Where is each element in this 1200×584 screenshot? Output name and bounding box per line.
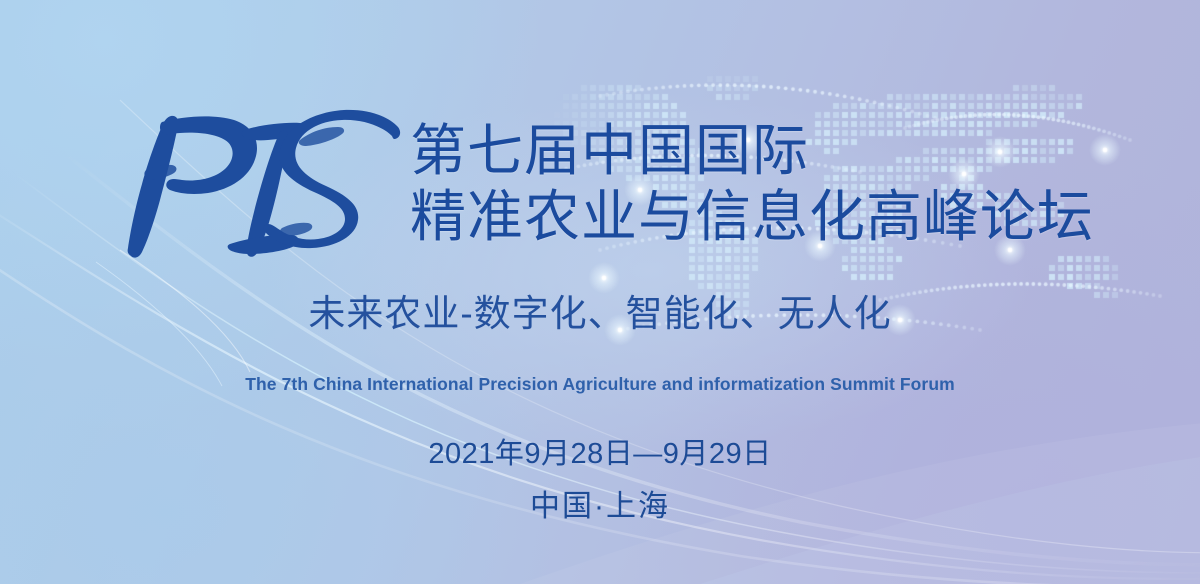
pis-logo-icon [104,96,404,266]
event-location: 中国·上海 [0,487,1200,527]
pis-logo [104,96,404,266]
poster-content: 第七届中国国际 精准农业与信息化高峰论坛 未来农业-数字化、智能化、无人化 Th… [0,0,1200,584]
event-poster: 第七届中国国际 精准农业与信息化高峰论坛 未来农业-数字化、智能化、无人化 Th… [0,0,1200,584]
subtitle-theme: 未来农业-数字化、智能化、无人化 [0,291,1200,337]
english-title: The 7th China International Precision Ag… [0,372,1200,396]
main-title-line-1: 第七届中国国际 [410,118,1094,184]
main-title-line-2: 精准农业与信息化高峰论坛 [410,184,1094,250]
event-date: 2021年9月28日—9月29日 [0,435,1200,473]
main-title: 第七届中国国际 精准农业与信息化高峰论坛 [410,118,1094,250]
